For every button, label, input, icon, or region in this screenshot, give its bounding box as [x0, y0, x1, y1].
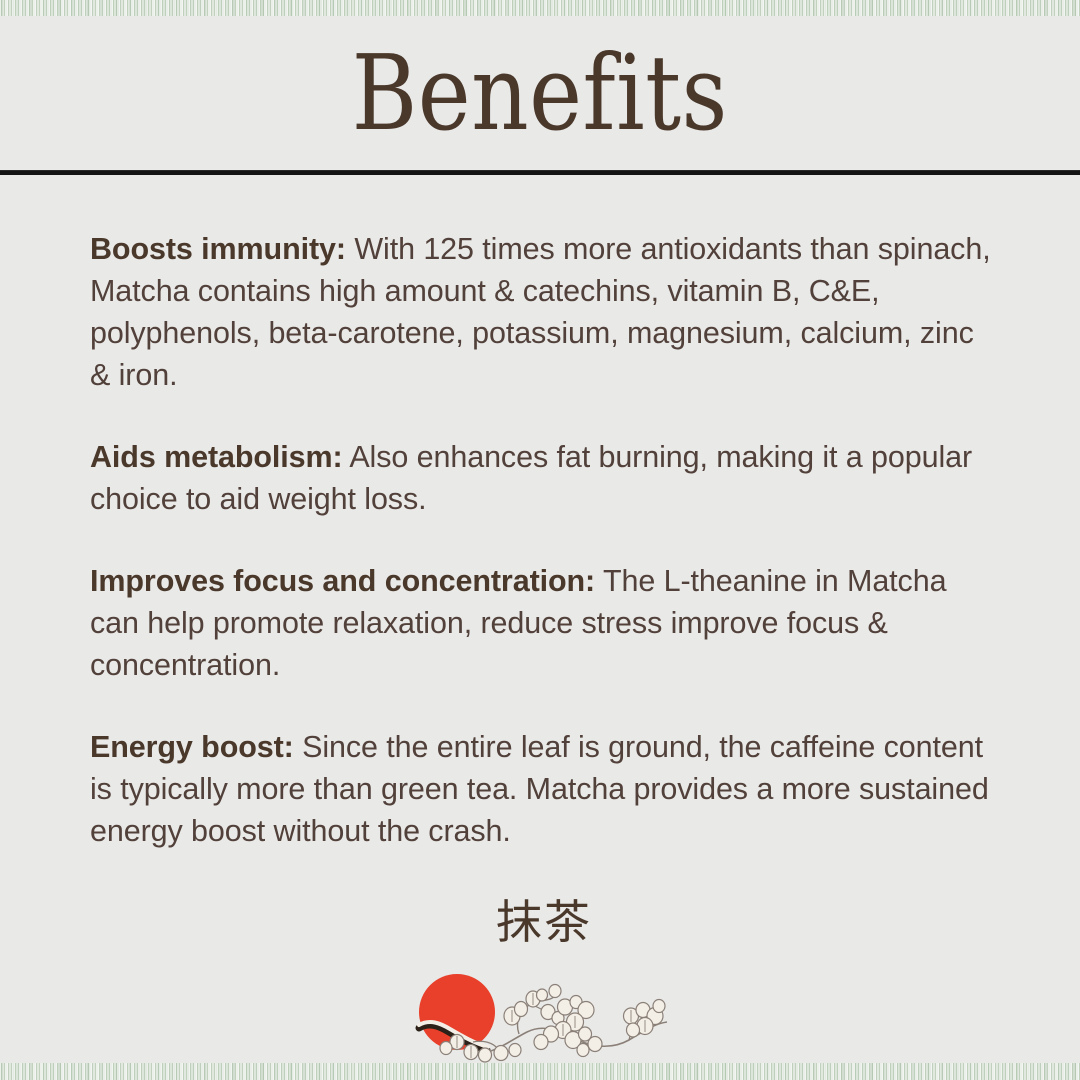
benefit-item-energy: Energy boost: Since the entire leaf is g… [90, 726, 995, 852]
matcha-benefits-poster: { "theme": { "background": "#e9e9e8", "b… [0, 0, 1080, 1080]
benefit-lead: Improves focus and concentration: [90, 564, 595, 598]
brand-mark-illustration [415, 960, 685, 1060]
benefit-item-metabolism: Aids metabolism: Also enhances fat burni… [90, 436, 995, 520]
header-divider [0, 170, 1080, 175]
benefit-lead: Boosts immunity: [90, 232, 346, 266]
bottom-decorative-band [0, 1063, 1080, 1080]
benefit-lead: Aids metabolism: [90, 440, 343, 474]
brand-logo: 抹茶 [0, 898, 1080, 1063]
header: Benefits [0, 0, 1080, 172]
benefit-item-immunity: Boosts immunity: With 125 times more ant… [90, 228, 995, 396]
benefits-list: Boosts immunity: With 125 times more ant… [90, 228, 995, 852]
brand-kanji-matcha: 抹茶 [0, 898, 1080, 946]
benefit-item-focus: Improves focus and concentration: The L-… [90, 560, 995, 686]
page-title: Benefits [352, 27, 728, 145]
benefit-lead: Energy boost: [90, 730, 294, 764]
